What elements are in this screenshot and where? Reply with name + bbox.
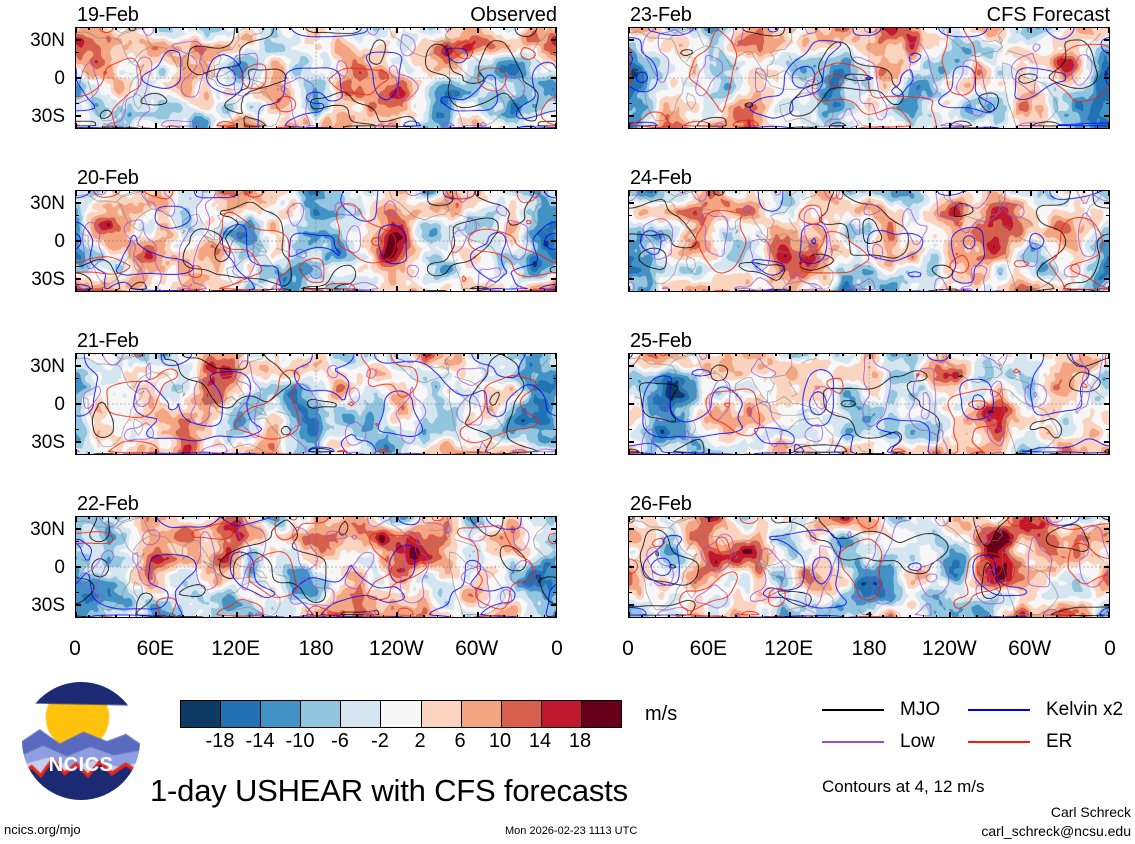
map-field: [629, 517, 1109, 617]
x-axis-tick: [708, 190, 710, 196]
x-axis-minor-tick: [437, 516, 438, 519]
x-axis-minor-tick: [1097, 353, 1098, 356]
x-axis-minor-tick: [829, 615, 830, 618]
x-axis-minor-tick: [544, 452, 545, 455]
y-axis-label: 30S: [0, 270, 65, 289]
panel-date-label: 26-Feb: [630, 494, 692, 514]
x-axis-minor-tick: [249, 516, 250, 519]
x-axis-tick: [155, 516, 157, 522]
x-axis-minor-tick: [517, 615, 518, 618]
x-axis-label: 180: [829, 638, 909, 659]
x-axis-minor-tick: [923, 615, 924, 618]
x-axis-minor-tick: [775, 452, 776, 455]
x-axis-minor-tick: [262, 126, 263, 129]
x-axis-minor-tick: [882, 353, 883, 356]
x-axis-minor-tick: [423, 27, 424, 30]
x-axis-minor-tick: [343, 126, 344, 129]
panel-date-label: 22-Feb: [77, 494, 139, 514]
colorbar-segment: [541, 701, 581, 727]
x-axis-minor-tick: [668, 615, 669, 618]
y-axis-tick: [628, 278, 634, 280]
x-axis-minor-tick: [641, 452, 642, 455]
x-axis-tick: [396, 612, 398, 618]
x-axis-minor-tick: [530, 289, 531, 292]
x-axis-minor-tick: [909, 190, 910, 193]
x-axis-minor-tick: [209, 452, 210, 455]
x-axis-minor-tick: [530, 516, 531, 519]
panel-date-label: 20-Feb: [77, 168, 139, 188]
x-axis-minor-tick: [450, 353, 451, 356]
x-axis-minor-tick: [410, 516, 411, 519]
x-axis-minor-tick: [815, 27, 816, 30]
x-axis-tick: [628, 612, 630, 618]
x-axis-minor-tick: [976, 452, 977, 455]
x-axis-minor-tick: [249, 27, 250, 30]
x-axis-tick: [236, 449, 238, 455]
x-axis-minor-tick: [115, 27, 116, 30]
y-axis-tick: [628, 77, 634, 79]
y-axis-minor-tick: [1106, 266, 1110, 267]
x-axis-tick: [316, 516, 318, 522]
x-axis-minor-tick: [437, 615, 438, 618]
x-axis-minor-tick: [276, 27, 277, 30]
x-axis-minor-tick: [923, 516, 924, 519]
y-axis-tick: [551, 365, 557, 367]
x-axis-tick: [628, 123, 630, 129]
x-axis-label: 60E: [115, 638, 195, 659]
x-axis-minor-tick: [762, 452, 763, 455]
x-axis-minor-tick: [1070, 516, 1071, 519]
x-axis-minor-tick: [963, 27, 964, 30]
x-axis-minor-tick: [410, 190, 411, 193]
x-axis-minor-tick: [882, 516, 883, 519]
y-axis-minor-tick: [75, 592, 79, 593]
x-axis-minor-tick: [1070, 353, 1071, 356]
x-axis-tick: [155, 286, 157, 292]
x-axis-tick: [477, 286, 479, 292]
x-axis-tick: [477, 612, 479, 618]
y-axis-minor-tick: [1106, 592, 1110, 593]
x-axis-minor-tick: [682, 27, 683, 30]
x-axis-minor-tick: [815, 353, 816, 356]
colorbar-segment: [421, 701, 461, 727]
y-axis-tick: [75, 566, 81, 568]
x-axis-minor-tick: [423, 615, 424, 618]
x-axis-minor-tick: [410, 452, 411, 455]
x-axis-minor-tick: [735, 353, 736, 356]
x-axis-minor-tick: [829, 190, 830, 193]
x-axis-tick: [869, 516, 871, 522]
y-axis-tick: [1104, 604, 1110, 606]
x-axis-minor-tick: [129, 126, 130, 129]
x-axis-tick: [316, 27, 318, 33]
y-axis-tick: [1104, 441, 1110, 443]
x-axis-minor-tick: [802, 615, 803, 618]
x-axis-minor-tick: [209, 126, 210, 129]
x-axis-tick: [316, 612, 318, 618]
x-axis-minor-tick: [410, 353, 411, 356]
y-axis-tick: [628, 441, 634, 443]
x-axis-minor-tick: [775, 126, 776, 129]
x-axis-minor-tick: [329, 615, 330, 618]
map-panel: [628, 190, 1110, 292]
x-axis-minor-tick: [695, 516, 696, 519]
x-axis-tick: [869, 123, 871, 129]
x-axis-minor-tick: [842, 289, 843, 292]
legend-label-mjo: MJO: [900, 700, 940, 719]
x-axis-minor-tick: [222, 615, 223, 618]
x-axis-minor-tick: [842, 516, 843, 519]
x-axis-minor-tick: [641, 289, 642, 292]
x-axis-minor-tick: [517, 516, 518, 519]
x-axis-tick: [1108, 516, 1110, 522]
x-axis-minor-tick: [990, 27, 991, 30]
x-axis-minor-tick: [909, 353, 910, 356]
x-axis-tick: [789, 449, 791, 455]
x-axis-minor-tick: [463, 27, 464, 30]
x-axis-minor-tick: [249, 190, 250, 193]
x-axis-minor-tick: [517, 126, 518, 129]
x-axis-tick: [628, 190, 630, 196]
x-axis-minor-tick: [450, 615, 451, 618]
x-axis-minor-tick: [142, 126, 143, 129]
x-axis-minor-tick: [289, 190, 290, 193]
y-axis-tick: [628, 39, 634, 41]
x-axis-minor-tick: [115, 126, 116, 129]
x-axis-minor-tick: [990, 452, 991, 455]
x-axis-minor-tick: [936, 27, 937, 30]
x-axis-minor-tick: [289, 289, 290, 292]
x-axis-minor-tick: [695, 353, 696, 356]
x-axis-tick: [708, 286, 710, 292]
x-axis-tick: [555, 449, 557, 455]
x-axis-minor-tick: [276, 452, 277, 455]
x-axis-minor-tick: [963, 452, 964, 455]
y-axis-label: 0: [0, 558, 65, 577]
author-email: carl_schreck@ncsu.edu: [875, 824, 1131, 838]
x-axis-label: 60E: [668, 638, 748, 659]
x-axis-minor-tick: [856, 615, 857, 618]
y-axis-tick: [75, 77, 81, 79]
x-axis-minor-tick: [1003, 190, 1004, 193]
x-axis-tick: [236, 516, 238, 522]
x-axis-minor-tick: [530, 190, 531, 193]
x-axis-minor-tick: [829, 516, 830, 519]
x-axis-minor-tick: [735, 615, 736, 618]
x-axis-minor-tick: [356, 289, 357, 292]
x-axis-minor-tick: [655, 615, 656, 618]
x-axis-tick: [555, 190, 557, 196]
x-axis-minor-tick: [262, 452, 263, 455]
x-axis-minor-tick: [303, 126, 304, 129]
x-axis-minor-tick: [142, 516, 143, 519]
x-axis-minor-tick: [115, 190, 116, 193]
y-axis-minor-tick: [628, 541, 632, 542]
x-axis-tick: [949, 516, 951, 522]
x-axis-minor-tick: [802, 126, 803, 129]
colorbar-units-label: m/s: [645, 704, 677, 724]
x-axis-minor-tick: [655, 27, 656, 30]
y-axis-tick: [551, 77, 557, 79]
x-axis-minor-tick: [641, 27, 642, 30]
x-axis-minor-tick: [222, 452, 223, 455]
x-axis-tick: [949, 612, 951, 618]
x-axis-minor-tick: [410, 126, 411, 129]
x-axis-minor-tick: [410, 27, 411, 30]
y-axis-minor-tick: [1106, 52, 1110, 53]
x-axis-tick: [869, 190, 871, 196]
y-axis-tick: [1104, 202, 1110, 204]
x-axis-minor-tick: [517, 353, 518, 356]
x-axis-tick: [949, 449, 951, 455]
x-axis-minor-tick: [655, 353, 656, 356]
x-axis-tick: [236, 123, 238, 129]
x-axis-tick: [396, 123, 398, 129]
x-axis-minor-tick: [410, 615, 411, 618]
x-axis-minor-tick: [169, 289, 170, 292]
x-axis-minor-tick: [289, 615, 290, 618]
x-axis-minor-tick: [544, 126, 545, 129]
x-axis-minor-tick: [182, 27, 183, 30]
x-axis-minor-tick: [303, 615, 304, 618]
x-axis-minor-tick: [1056, 126, 1057, 129]
x-axis-minor-tick: [490, 289, 491, 292]
x-axis-minor-tick: [343, 353, 344, 356]
x-axis-minor-tick: [115, 516, 116, 519]
x-axis-minor-tick: [856, 452, 857, 455]
x-axis-minor-tick: [423, 353, 424, 356]
y-axis-minor-tick: [1106, 541, 1110, 542]
x-axis-minor-tick: [370, 353, 371, 356]
x-axis-minor-tick: [222, 126, 223, 129]
x-axis-minor-tick: [749, 615, 750, 618]
x-axis-minor-tick: [762, 126, 763, 129]
x-axis-minor-tick: [695, 289, 696, 292]
x-axis-minor-tick: [209, 190, 210, 193]
x-axis-minor-tick: [370, 190, 371, 193]
site-url: ncics.org/mjo: [4, 823, 81, 836]
y-axis-minor-tick: [553, 215, 557, 216]
x-axis-minor-tick: [909, 289, 910, 292]
y-axis-minor-tick: [75, 378, 79, 379]
x-axis-minor-tick: [517, 452, 518, 455]
x-axis-minor-tick: [142, 27, 143, 30]
x-axis-minor-tick: [517, 190, 518, 193]
y-axis-label: 30N: [0, 357, 65, 376]
x-axis-minor-tick: [196, 353, 197, 356]
x-axis-minor-tick: [976, 289, 977, 292]
x-axis-minor-tick: [1003, 27, 1004, 30]
x-axis-minor-tick: [749, 190, 750, 193]
map-field: [629, 28, 1109, 128]
panel-date-label: 24-Feb: [630, 168, 692, 188]
x-axis-minor-tick: [936, 615, 937, 618]
colorbar: [180, 700, 622, 728]
x-axis-minor-tick: [976, 516, 977, 519]
x-axis-minor-tick: [1083, 516, 1084, 519]
x-axis-tick: [316, 286, 318, 292]
x-axis-minor-tick: [463, 190, 464, 193]
x-axis-tick: [628, 353, 630, 359]
x-axis-minor-tick: [856, 516, 857, 519]
x-axis-minor-tick: [450, 190, 451, 193]
x-axis-minor-tick: [990, 190, 991, 193]
x-axis-minor-tick: [343, 27, 344, 30]
contour-note: Contours at 4, 12 m/s: [822, 778, 985, 795]
x-axis-minor-tick: [196, 27, 197, 30]
x-axis-minor-tick: [682, 126, 683, 129]
x-axis-minor-tick: [102, 190, 103, 193]
x-axis-minor-tick: [169, 452, 170, 455]
x-axis-tick: [477, 449, 479, 455]
author-name: Carl Schreck: [875, 805, 1131, 819]
x-axis-tick: [555, 27, 557, 33]
x-axis-minor-tick: [1097, 190, 1098, 193]
y-axis-tick: [75, 278, 81, 280]
x-axis-tick: [628, 286, 630, 292]
x-axis-minor-tick: [815, 190, 816, 193]
x-axis-minor-tick: [289, 27, 290, 30]
x-axis-minor-tick: [775, 516, 776, 519]
x-axis-tick: [949, 353, 951, 359]
x-axis-minor-tick: [668, 27, 669, 30]
x-axis-minor-tick: [842, 452, 843, 455]
x-axis-minor-tick: [655, 516, 656, 519]
y-axis-tick: [1104, 365, 1110, 367]
map-panel: [75, 516, 557, 618]
y-axis-tick: [628, 528, 634, 530]
x-axis-minor-tick: [423, 126, 424, 129]
y-axis-tick: [75, 403, 81, 405]
x-axis-minor-tick: [276, 353, 277, 356]
y-axis-label: 30N: [0, 194, 65, 213]
x-axis-tick: [555, 286, 557, 292]
x-axis-minor-tick: [655, 289, 656, 292]
x-axis-minor-tick: [762, 516, 763, 519]
x-axis-minor-tick: [923, 190, 924, 193]
x-axis-minor-tick: [856, 289, 857, 292]
x-axis-minor-tick: [722, 126, 723, 129]
x-axis-tick: [869, 353, 871, 359]
map-panel: [628, 353, 1110, 455]
x-axis-minor-tick: [356, 126, 357, 129]
y-axis-minor-tick: [1106, 429, 1110, 430]
y-axis-tick: [1104, 278, 1110, 280]
x-axis-minor-tick: [343, 615, 344, 618]
x-axis-minor-tick: [682, 289, 683, 292]
x-axis-tick: [789, 612, 791, 618]
y-axis-tick: [628, 115, 634, 117]
x-axis-minor-tick: [102, 27, 103, 30]
y-axis-tick: [628, 240, 634, 242]
x-axis-minor-tick: [802, 190, 803, 193]
x-axis-tick: [1108, 190, 1110, 196]
x-axis-minor-tick: [423, 452, 424, 455]
x-axis-minor-tick: [329, 27, 330, 30]
x-axis-minor-tick: [343, 452, 344, 455]
x-axis-minor-tick: [722, 190, 723, 193]
x-axis-minor-tick: [142, 190, 143, 193]
x-axis-minor-tick: [896, 615, 897, 618]
x-axis-minor-tick: [1083, 615, 1084, 618]
y-axis-minor-tick: [628, 215, 632, 216]
x-axis-tick: [1030, 449, 1032, 455]
x-axis-label: 0: [517, 638, 597, 659]
x-axis-minor-tick: [682, 353, 683, 356]
x-axis-minor-tick: [129, 27, 130, 30]
x-axis-minor-tick: [896, 452, 897, 455]
y-axis-tick: [551, 441, 557, 443]
x-axis-minor-tick: [463, 289, 464, 292]
x-axis-minor-tick: [1097, 27, 1098, 30]
x-axis-minor-tick: [668, 516, 669, 519]
x-axis-minor-tick: [437, 126, 438, 129]
colorbar-segment: [340, 701, 380, 727]
y-axis-label: 0: [0, 232, 65, 251]
x-axis-minor-tick: [923, 289, 924, 292]
x-axis-minor-tick: [1003, 353, 1004, 356]
x-axis-minor-tick: [641, 190, 642, 193]
x-axis-label: 120W: [909, 638, 989, 659]
x-axis-minor-tick: [88, 126, 89, 129]
x-axis-tick: [555, 123, 557, 129]
x-axis-minor-tick: [196, 289, 197, 292]
map-field: [76, 191, 556, 291]
x-axis-minor-tick: [383, 126, 384, 129]
x-axis-minor-tick: [196, 190, 197, 193]
y-axis-label: 0: [0, 69, 65, 88]
x-axis-minor-tick: [775, 353, 776, 356]
x-axis-tick: [1030, 353, 1032, 359]
x-axis-minor-tick: [815, 126, 816, 129]
x-axis-minor-tick: [1043, 190, 1044, 193]
x-axis-minor-tick: [423, 516, 424, 519]
x-axis-label: 0: [588, 638, 668, 659]
x-axis-minor-tick: [102, 353, 103, 356]
x-axis-tick: [1030, 516, 1032, 522]
x-axis-minor-tick: [936, 452, 937, 455]
x-axis-minor-tick: [423, 289, 424, 292]
x-axis-tick: [1108, 123, 1110, 129]
x-axis-minor-tick: [668, 452, 669, 455]
x-axis-minor-tick: [530, 353, 531, 356]
x-axis-minor-tick: [544, 353, 545, 356]
x-axis-minor-tick: [682, 615, 683, 618]
x-axis-tick: [75, 286, 77, 292]
x-axis-minor-tick: [815, 516, 816, 519]
x-axis-minor-tick: [842, 615, 843, 618]
x-axis-minor-tick: [356, 190, 357, 193]
x-axis-minor-tick: [1056, 615, 1057, 618]
x-axis-tick: [316, 190, 318, 196]
x-axis-minor-tick: [882, 126, 883, 129]
x-axis-minor-tick: [544, 190, 545, 193]
x-axis-minor-tick: [1003, 615, 1004, 618]
x-axis-minor-tick: [276, 126, 277, 129]
x-axis-label: 0: [1070, 638, 1135, 659]
x-axis-minor-tick: [356, 27, 357, 30]
colorbar-segment: [260, 701, 300, 727]
x-axis-minor-tick: [88, 452, 89, 455]
x-axis-minor-tick: [762, 190, 763, 193]
x-axis-minor-tick: [463, 353, 464, 356]
x-axis-minor-tick: [503, 289, 504, 292]
x-axis-tick: [75, 27, 77, 33]
y-axis-tick: [551, 403, 557, 405]
x-axis-minor-tick: [142, 289, 143, 292]
y-axis-tick: [551, 39, 557, 41]
x-axis-tick: [628, 449, 630, 455]
